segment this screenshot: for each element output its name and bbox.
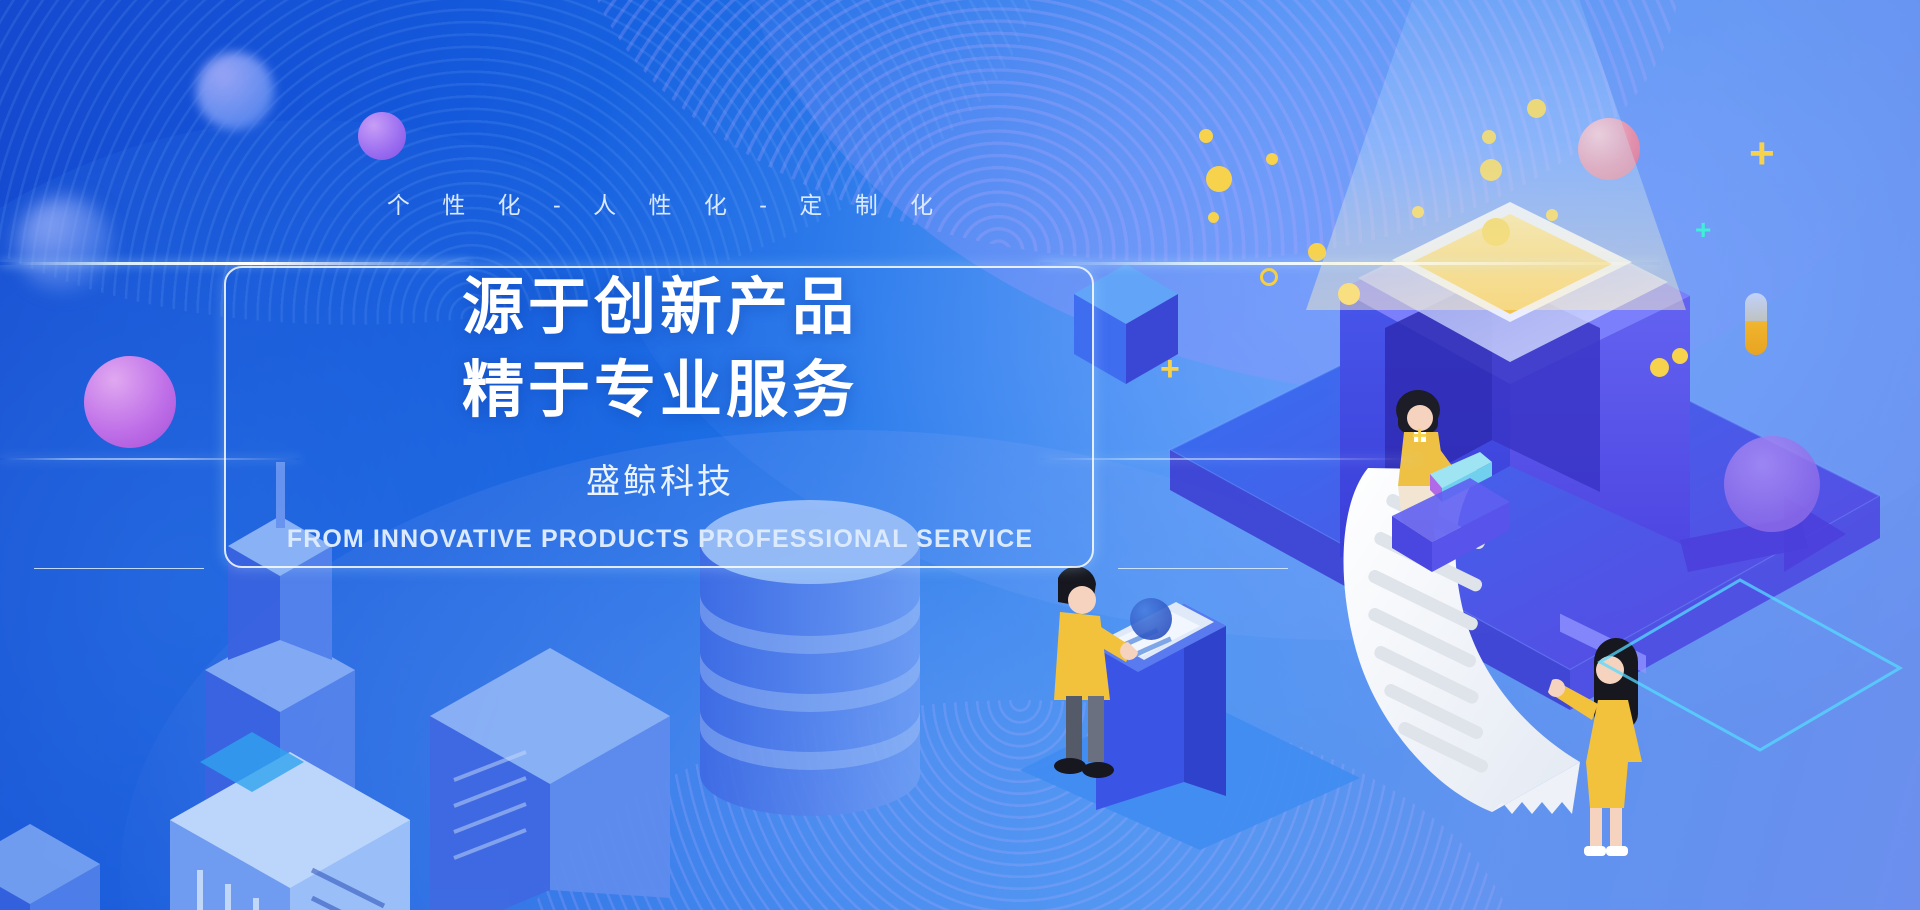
tagline: 个 性 化 - 人 性 化 - 定 制 化: [224, 186, 1096, 220]
decorative-dot-yellow-7: [1199, 129, 1213, 143]
decorative-sphere-purple-large: [84, 356, 176, 448]
decorative-ring-yellow: [1260, 268, 1278, 286]
divider-left: [34, 568, 204, 569]
decorative-sphere-navy: [1130, 598, 1172, 640]
hero-banner: + + + + 个 性 化 - 人 性 化 - 定 制 化 源于创新产品 精于专…: [0, 0, 1920, 910]
hero-text-block: 个 性 化 - 人 性 化 - 定 制 化 源于创新产品 精于专业服务 盛鲸科技…: [224, 186, 1096, 554]
kiosk-illustration: [1000, 520, 1360, 850]
company-name: 盛鲸科技: [224, 454, 1096, 503]
headline-line-2: 精于专业服务: [224, 349, 1096, 432]
headline-line-1: 源于创新产品: [224, 266, 1096, 349]
plus-icon-yellow-right: +: [1749, 132, 1775, 176]
decorative-sphere-purple-background: [1724, 436, 1820, 532]
plus-icon-cyan: +: [1695, 216, 1711, 244]
decorative-sphere-blurred-blue: [196, 52, 274, 130]
english-tagline: FROM INNOVATIVE PRODUCTS PROFESSIONAL SE…: [287, 525, 1033, 554]
decorative-dot-yellow-8: [1206, 166, 1232, 192]
light-beam: [1306, 0, 1686, 310]
plus-icon-yellow-mid: +: [1412, 422, 1427, 448]
decorative-sphere-purple-small: [358, 112, 406, 160]
light-streak-lower-right: [1040, 458, 1420, 460]
decorative-dot-yellow-11: [1308, 243, 1326, 261]
decorative-sphere-blurred-edge: [16, 196, 112, 292]
decorative-capsule-tube: [1745, 293, 1767, 355]
plus-icon-yellow-left: +: [1160, 352, 1180, 386]
decorative-dot-yellow-10: [1208, 212, 1219, 223]
english-tagline-row: FROM INNOVATIVE PRODUCTS PROFESSIONAL SE…: [224, 525, 1096, 554]
decorative-dot-yellow-14: [1672, 348, 1688, 364]
decorative-dot-yellow-13: [1650, 358, 1669, 377]
divider-right: [1118, 568, 1288, 569]
decorative-dot-yellow-9: [1266, 153, 1278, 165]
